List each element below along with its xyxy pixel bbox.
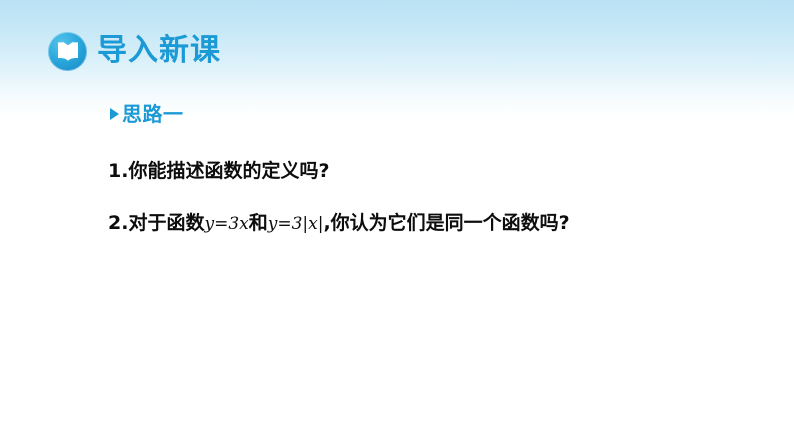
question-2-tail: ,你认为它们是同一个函数吗? [323,212,569,234]
question-2-index: 2. [108,212,128,234]
subheading-thought-one: 思路一 [110,104,184,124]
question-item-1: 1.你能描述函数的定义吗? [108,160,329,183]
slide-canvas: 导入新课 思路一 1.你能描述函数的定义吗? 2.对于函数y=3x和y=3|x|… [0,0,794,447]
math-expression-1: y=3x [204,214,248,234]
slide-title-block: 导入新课 [48,28,221,74]
subheading-label: 思路一 [122,104,184,124]
question-2-lead: 对于函数 [128,212,204,234]
question-item-2: 2.对于函数y=3x和y=3|x|,你认为它们是同一个函数吗? [108,212,570,235]
math-expression-2: y=3|x| [268,214,324,234]
triangle-right-icon [110,108,119,120]
open-book-icon [48,32,87,71]
question-1-text: 1.你能描述函数的定义吗? [108,160,329,182]
page-title: 导入新课 [97,36,221,66]
question-2-connector: 和 [249,212,268,234]
